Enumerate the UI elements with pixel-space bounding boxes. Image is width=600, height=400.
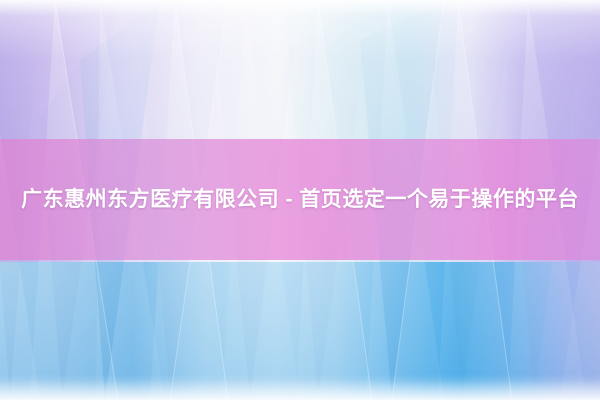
promo-banner: 广东惠州东方医疗有限公司 - 首页选定一个易于操作的平台	[0, 0, 600, 400]
banner-title-container: 广东惠州东方医疗有限公司 - 首页选定一个易于操作的平台	[0, 139, 600, 260]
banner-title: 广东惠州东方医疗有限公司 - 首页选定一个易于操作的平台	[18, 180, 582, 220]
